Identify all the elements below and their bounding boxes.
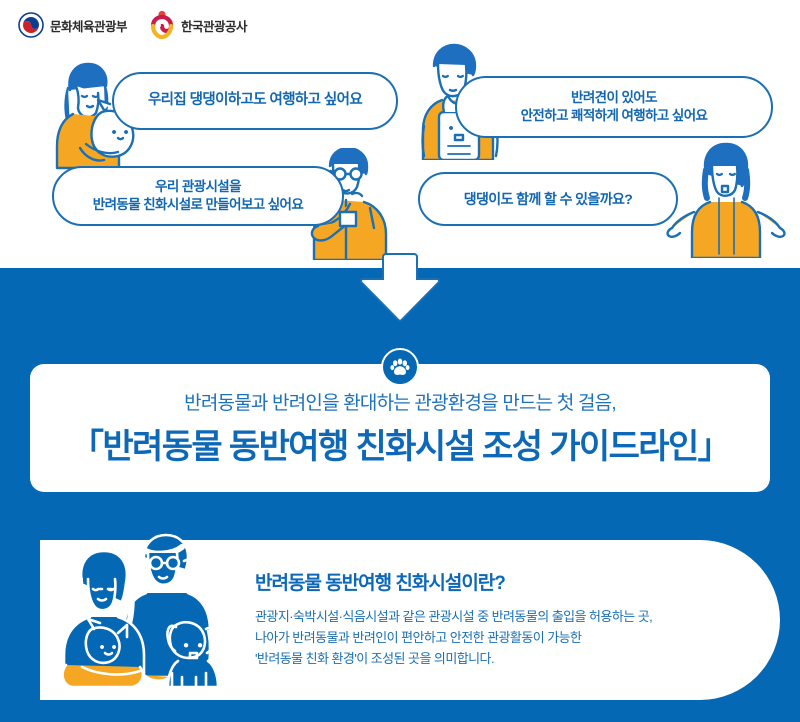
page-title: 「반려동물 동반여행 친화시설 조성 가이드라인」 (70, 419, 730, 468)
bubble-can-pet-join: 댕댕이도 함께 할 수 있을까요? (418, 172, 678, 226)
mcst-emblem-icon (18, 12, 44, 38)
bubble-2-line-1: 반려견이 있어도 (521, 89, 708, 107)
bubble-make-pet-friendly-facility: 우리 관광시설을 반려동물 친화시설로 만들어보고 싶어요 (52, 166, 344, 226)
title-subtitle: 반려동물과 반려인을 환대하는 관광환경을 만드는 첫 걸음, (184, 388, 616, 415)
illustration-woman-shrugging (664, 140, 788, 258)
illustration-family-with-two-dogs (48, 525, 268, 707)
bubble-2-line-2: 안전하고 쾌적하게 여행하고 싶어요 (521, 107, 708, 125)
mcst-logo: 문화체육관광부 (18, 12, 127, 38)
paw-icon (381, 348, 419, 386)
bubble-3-line-2: 반려동물 친화시설로 만들어보고 싶어요 (93, 196, 303, 214)
bubble-3-line-1: 우리 관광시설을 (93, 178, 303, 196)
kto-logo: 한국관광공사 (149, 10, 247, 40)
info-body-line-3: '반려동물 친화 환경'이 조성된 곳을 의미합니다. (255, 648, 725, 669)
bubble-safe-comfortable-travel: 반려견이 있어도 안전하고 쾌적하게 여행하고 싶어요 (455, 76, 773, 138)
top-section: 문화체육관광부 한국관광공사 (0, 0, 800, 268)
info-body-line-2: 나아가 반려동물과 반려인이 편안하고 안전한 관광활동이 가능한 (255, 627, 725, 648)
info-body-line-1: 관광지·숙박시설·식음시설과 같은 관광시설 중 반려동물의 출입을 허용하는 … (255, 606, 725, 627)
mcst-logo-label: 문화체육관광부 (50, 16, 127, 35)
bubble-4-line-1: 댕댕이도 함께 할 수 있을까요? (464, 190, 632, 208)
info-body: 관광지·숙박시설·식음시설과 같은 관광시설 중 반려동물의 출입을 허용하는 … (255, 606, 725, 669)
kto-logo-label: 한국관광공사 (181, 16, 247, 35)
down-arrow-wrap (350, 252, 450, 324)
kto-emblem-icon (149, 10, 175, 40)
bubble-1-line-1: 우리집 댕댕이하고도 여행하고 싶어요 (148, 91, 362, 110)
info-text-block: 반려동물 동반여행 친화시설이란? 관광지·숙박시설·식음시설과 같은 관광시설… (255, 568, 725, 669)
paw-print-icon (389, 356, 411, 378)
logo-bar: 문화체육관광부 한국관광공사 (18, 10, 247, 40)
down-arrow-icon (350, 252, 450, 324)
bubble-pet-travel-wish: 우리집 댕댕이하고도 여행하고 싶어요 (112, 72, 398, 130)
infographic-page: 문화체육관광부 한국관광공사 (0, 0, 800, 722)
info-heading: 반려동물 동반여행 친화시설이란? (255, 568, 725, 595)
